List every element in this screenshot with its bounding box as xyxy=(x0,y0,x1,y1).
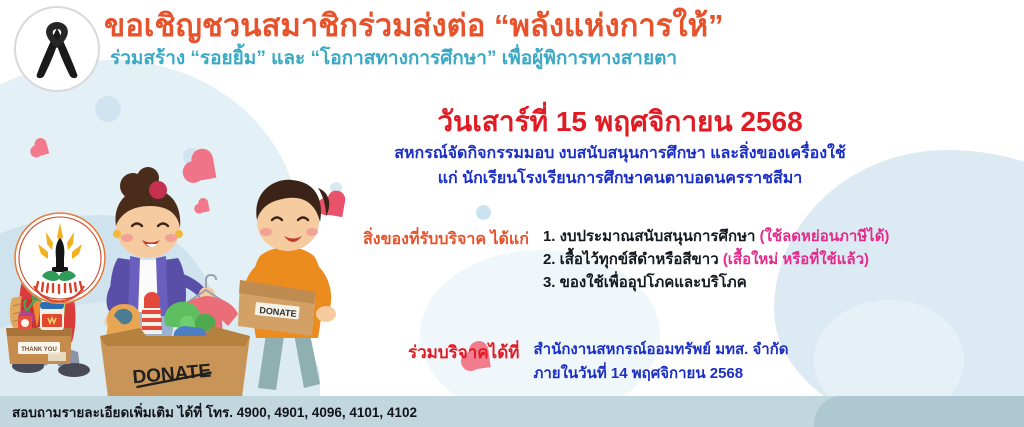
header-text-block: ขอเชิญชวนสมาชิกร่วมส่งต่อ “พลังแห่งการให… xyxy=(104,8,1004,71)
donation-location-office: สำนักงานสหกรณ์ออมทรัพย์ มทส. จำกัด xyxy=(533,338,788,362)
page-title: ขอเชิญชวนสมาชิกร่วมส่งต่อ “พลังแห่งการให… xyxy=(104,8,1004,45)
event-description-line-2: แก่ นักเรียนโรงเรียนการศึกษาคนตาบอดนครรา… xyxy=(300,167,940,192)
background-dot xyxy=(95,96,121,122)
list-item-number: 2. xyxy=(543,251,556,268)
donation-location-label: ร่วมบริจาคได้ที่ xyxy=(408,338,519,366)
list-item-number: 3. xyxy=(543,274,556,291)
black-mourning-ribbon-icon xyxy=(31,18,83,80)
page-subtitle: ร่วมสร้าง “รอยยิ้ม” และ “โอกาสทางการศึกษ… xyxy=(110,47,1004,72)
list-item-note: (ใช้ลดหย่อนภาษีได้) xyxy=(760,228,890,245)
footer-accent-shape xyxy=(814,396,1024,427)
event-date: วันเสาร์ที่ 15 พฤศจิกายน 2568 xyxy=(300,104,940,139)
list-item: 3. ของใช้เพื่ออุปโภคและบริโภค xyxy=(543,272,890,295)
list-item: 1. งบประมาณสนับสนุนการศึกษา (ใช้ลดหย่อนภ… xyxy=(543,226,890,249)
donation-deadline: ภายในวันที่ 14 พฤศจิกายน 2568 xyxy=(533,362,788,386)
donation-location-lines: สำนักงานสหกรณ์ออมทรัพย์ มทส. จำกัด ภายใน… xyxy=(533,338,788,385)
cooperative-logo xyxy=(12,210,108,306)
list-item-text: ของใช้เพื่ออุปโภคและบริโภค xyxy=(560,274,747,291)
event-description-line-1: สหกรณ์จัดกิจกรรมมอบ งบสนับสนุนการศึกษา แ… xyxy=(300,142,940,167)
mourning-ribbon-badge xyxy=(14,6,100,92)
donation-items-block: สิ่งของที่รับบริจาค ได้แก่ 1. งบประมาณสน… xyxy=(363,226,889,294)
donation-items-list: 1. งบประมาณสนับสนุนการศึกษา (ใช้ลดหย่อนภ… xyxy=(543,226,890,294)
illustration-man-right: DONATE xyxy=(238,180,336,390)
list-item-number: 1. xyxy=(543,228,556,245)
event-info-block: วันเสาร์ที่ 15 พฤศจิกายน 2568 สหกรณ์จัดก… xyxy=(300,104,940,192)
list-item-note: (เสื้อใหม่ หรือที่ใช้แล้ว) xyxy=(723,251,869,268)
poster-canvas: ขอเชิญชวนสมาชิกร่วมส่งต่อ “พลังแห่งการให… xyxy=(0,0,1024,427)
footer-bar: สอบถามรายละเอียดเพิ่มเติม ได้ที่ โทร. 49… xyxy=(0,396,1024,427)
cooperative-emblem-icon xyxy=(12,210,108,306)
list-item-text: งบประมาณสนับสนุนการศึกษา xyxy=(560,228,756,245)
box-tape xyxy=(48,352,66,361)
footer-contact-text: สอบถามรายละเอียดเพิ่มเติม ได้ที่ โทร. 49… xyxy=(12,401,417,423)
list-item: 2. เสื้อไว้ทุกข์สีดำหรือสีขาว (เสื้อใหม่… xyxy=(543,249,890,272)
list-item-text: เสื้อไว้ทุกข์สีดำหรือสีขาว xyxy=(560,251,719,268)
background-dot xyxy=(476,205,491,220)
donation-location-block: ร่วมบริจาคได้ที่ สำนักงานสหกรณ์ออมทรัพย์… xyxy=(408,338,789,385)
donation-items-label: สิ่งของที่รับบริจาค ได้แก่ xyxy=(363,226,529,252)
